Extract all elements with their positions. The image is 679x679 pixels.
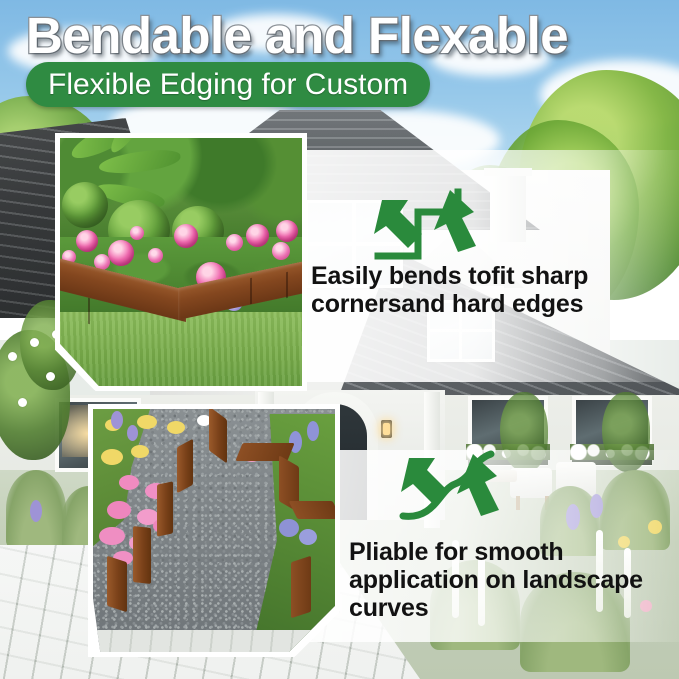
peony-flower: [76, 230, 98, 252]
climbing-vine: [602, 392, 650, 472]
edging-seam: [250, 278, 252, 304]
purple-flower: [566, 504, 580, 530]
purple-flower: [307, 421, 319, 441]
yellow-flower: [131, 445, 149, 458]
subtitle-badge-label: Flexible Edging for Custom: [48, 68, 408, 102]
pink-flower: [119, 475, 139, 490]
pink-flower: [107, 501, 131, 519]
callout-2-text: Pliable for smooth application on landsc…: [349, 538, 649, 622]
inset-photo-corner-image: [60, 138, 302, 386]
callout-1-line-1: Easily bends tofit sharp: [311, 262, 611, 290]
boxwood-topiary: [62, 182, 108, 228]
peony-flower: [108, 240, 134, 266]
purple-flower: [111, 411, 123, 429]
lantern-glow: [383, 423, 390, 435]
callout-2-line-2: application on landscape: [349, 566, 649, 594]
purple-flower: [299, 529, 317, 545]
yellow-flower: [101, 449, 123, 465]
purple-flower: [30, 500, 42, 522]
vine-flower: [46, 372, 55, 381]
yellow-flower: [137, 415, 157, 429]
corten-edging-segment: [157, 481, 173, 536]
peony-flower: [226, 234, 243, 251]
peony-flower: [272, 242, 290, 260]
s-curve-arrows-icon: [395, 446, 513, 524]
purple-flower: [127, 425, 138, 441]
corten-edging-segment: [133, 526, 151, 584]
peony-flower: [174, 224, 198, 248]
purple-flower: [590, 494, 603, 518]
subtitle-badge: Flexible Edging for Custom: [26, 62, 430, 107]
corten-edging-segment: [107, 556, 127, 612]
peony-flower: [130, 226, 144, 240]
edging-seam: [88, 298, 90, 324]
photo-paver-edge: [93, 630, 335, 652]
zigzag-step-arrows-icon: [370, 186, 488, 264]
corten-edging-segment: [177, 439, 193, 494]
chimney: [490, 172, 526, 242]
purple-flower: [279, 519, 299, 537]
corten-edging-segment: [291, 556, 311, 618]
peony-flower: [276, 220, 298, 242]
pink-flower: [99, 527, 125, 545]
callout-2-line-3: curves: [349, 594, 649, 622]
yellow-flower: [648, 520, 662, 534]
callout-1-line-2: cornersand hard edges: [311, 290, 611, 318]
vine-flower: [18, 398, 27, 407]
inset-photo-curve: [88, 404, 340, 657]
photo-lawn: [60, 312, 302, 386]
vine-flower: [8, 352, 17, 361]
page-title: Bendable and Flexable: [26, 8, 666, 63]
inset-photo-corner: [55, 133, 307, 391]
edging-seam: [286, 272, 288, 298]
chair-leg: [516, 496, 520, 510]
peony-flower: [148, 248, 163, 263]
vine-flower: [30, 338, 39, 347]
callout-2-line-1: Pliable for smooth: [349, 538, 649, 566]
chimney-cap: [484, 168, 532, 176]
callout-1-text: Easily bends tofit sharp cornersand hard…: [311, 262, 611, 318]
product-infographic: Bendable and Flexable Flexible Edging fo…: [0, 0, 679, 679]
peony-flower: [246, 224, 269, 247]
inset-photo-curve-image: [93, 409, 335, 652]
corten-edging-segment: [289, 501, 335, 519]
yellow-flower: [167, 421, 185, 434]
